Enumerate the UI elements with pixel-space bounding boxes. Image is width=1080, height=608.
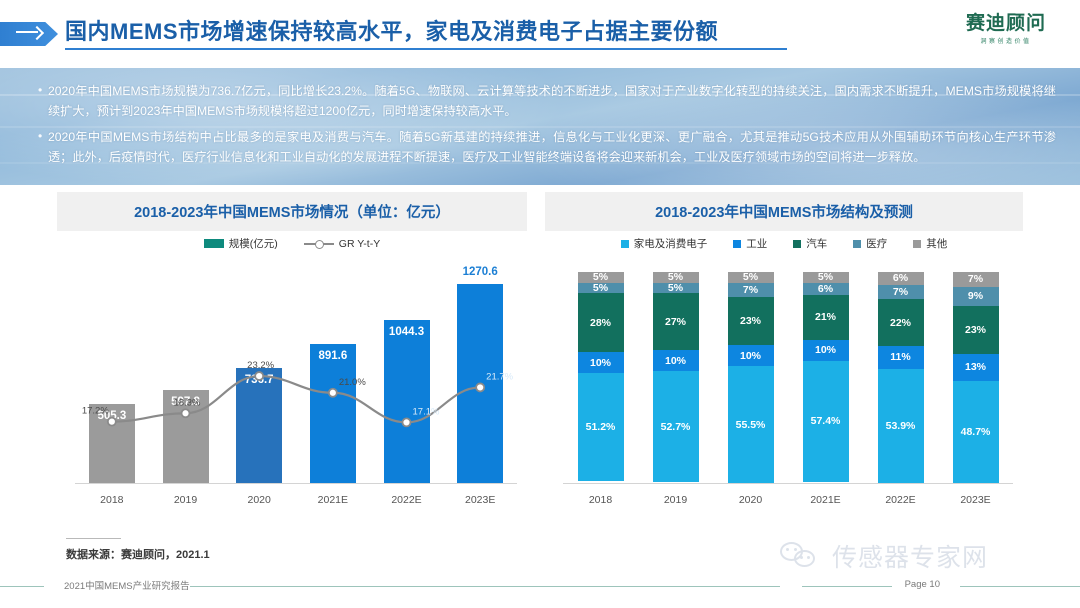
x-axis	[563, 483, 1013, 484]
stack-segment: 28%	[578, 293, 624, 352]
wechat-dot	[800, 556, 803, 559]
footer-divider	[190, 586, 780, 587]
growth-value-label: 17.2%	[82, 406, 109, 417]
legend-swatch-icon	[621, 240, 629, 248]
legend-item-1: 工业	[733, 236, 767, 251]
watermark: 传感器专家网	[780, 538, 988, 574]
legend-label: 医疗	[866, 236, 887, 251]
wechat-dot	[786, 548, 789, 551]
stacked-bar: 5%5%28%10%51.2%	[578, 272, 624, 483]
stack-segment: 6%	[878, 272, 924, 285]
x-axis-label: 2021E	[296, 494, 370, 506]
stack-segment: 48.7%	[953, 381, 999, 483]
stack-segment: 5%	[578, 272, 624, 283]
stack-segment: 11%	[878, 346, 924, 369]
legend-item-growth: GR Y-t-Y	[304, 238, 380, 250]
plot-area-market-size: 505.3597.8736.7891.61044.31270.6 17.2%18…	[57, 264, 527, 484]
wechat-bubble-small	[794, 550, 815, 567]
page-number: Page 10	[905, 579, 940, 590]
stacked-bar: 7%9%23%13%48.7%	[953, 272, 999, 483]
arrow-right-icon	[0, 22, 58, 46]
x-axis-label: 2018	[75, 494, 149, 506]
stack-segment: 7%	[878, 285, 924, 300]
chart-panel-market-size: 2018-2023年中国MEMS市场情况（单位：亿元） 规模(亿元) GR Y-…	[57, 192, 527, 534]
bullet-marker: •	[38, 81, 48, 100]
stack-slot: 5%7%23%10%55.5%	[713, 272, 788, 483]
stack-segment: 57.4%	[803, 361, 849, 482]
legend-item-4: 其他	[913, 236, 947, 251]
legend-label: 家电及消费电子	[634, 236, 708, 251]
stacked-bar-group: 5%5%28%10%51.2%5%5%27%10%52.7%5%7%23%10%…	[563, 272, 1013, 483]
x-axis-label: 2023E	[443, 494, 517, 506]
x-axis-label: 2019	[149, 494, 223, 506]
stacked-bar: 5%7%23%10%55.5%	[728, 272, 774, 483]
x-axis-label: 2022E	[863, 494, 938, 506]
wechat-dot	[794, 548, 797, 551]
x-axis-label: 2022E	[370, 494, 444, 506]
stack-segment: 10%	[728, 345, 774, 366]
source-divider	[66, 538, 121, 539]
x-axis-label: 2018	[563, 494, 638, 506]
stack-segment: 5%	[578, 283, 624, 294]
growth-line-marker	[476, 383, 484, 391]
legend-label: 汽车	[806, 236, 827, 251]
wechat-dot	[807, 556, 810, 559]
stack-segment: 55.5%	[728, 366, 774, 483]
stack-slot: 5%5%28%10%51.2%	[563, 272, 638, 483]
chart-title-bar: 2018-2023年中国MEMS市场情况（单位：亿元）	[57, 192, 527, 231]
legend-item-size: 规模(亿元)	[204, 236, 278, 251]
stack-slot: 5%6%21%10%57.4%	[788, 272, 863, 483]
plot-area-market-structure: 5%5%28%10%51.2%5%5%27%10%52.7%5%7%23%10%…	[545, 264, 1023, 484]
slide-header: 国内MEMS市场增速保持较高水平，家电及消费电子占据主要份额 赛迪顾问 洞察创造…	[0, 0, 1080, 68]
growth-value-label: 18.3%	[174, 397, 201, 408]
footer-divider	[802, 586, 892, 587]
growth-line-marker	[403, 418, 411, 426]
growth-value-label: 23.2%	[247, 360, 274, 371]
legend-label: 工业	[746, 236, 767, 251]
growth-line-marker	[255, 372, 263, 380]
footer-divider	[960, 586, 1080, 587]
stack-segment: 53.9%	[878, 369, 924, 483]
x-axis-label: 2020	[713, 494, 788, 506]
report-name: 2021中国MEMS产业研究报告	[64, 578, 190, 592]
legend-swatch-icon	[913, 240, 921, 248]
data-source-note: 数据来源：赛迪顾问，2021.1	[66, 546, 210, 562]
legend-line-marker-icon	[304, 239, 334, 248]
stack-segment: 27%	[653, 293, 699, 350]
stack-segment: 10%	[578, 352, 624, 373]
slide-root: 国内MEMS市场增速保持较高水平，家电及消费电子占据主要份额 赛迪顾问 洞察创造…	[0, 0, 1080, 608]
chart-panel-market-structure: 2018-2023年中国MEMS市场结构及预测 家电及消费电子工业汽车医疗其他 …	[545, 192, 1023, 534]
title-underline	[65, 48, 787, 50]
footer-divider	[0, 586, 44, 587]
stack-segment: 5%	[653, 283, 699, 294]
bullet-item: • 2020年中国MEMS市场规模为736.7亿元，同比增长23.2%。随着5G…	[38, 81, 1056, 121]
brand-name: 赛迪顾问	[966, 14, 1046, 34]
growth-line-marker	[329, 389, 337, 397]
legend-swatch-icon	[204, 239, 224, 248]
stack-segment: 13%	[953, 354, 999, 381]
stack-segment: 23%	[728, 297, 774, 345]
legend-item-3: 医疗	[853, 236, 887, 251]
page-title: 国内MEMS市场增速保持较高水平，家电及消费电子占据主要份额	[65, 14, 718, 46]
x-axis-label: 2023E	[938, 494, 1013, 506]
x-axis-label: 2019	[638, 494, 713, 506]
growth-line-marker	[108, 418, 116, 426]
stack-segment: 6%	[803, 283, 849, 296]
legend-item-0: 家电及消费电子	[621, 236, 708, 251]
growth-value-label: 21.7%	[486, 371, 513, 382]
stack-segment: 5%	[803, 272, 849, 283]
legend-label: 规模(亿元)	[229, 236, 278, 251]
bullet-marker: •	[38, 127, 48, 146]
stack-slot: 5%5%27%10%52.7%	[638, 272, 713, 483]
legend-label: GR Y-t-Y	[339, 238, 380, 250]
x-axis-label: 2021E	[788, 494, 863, 506]
brand-logo: 赛迪顾问 洞察创造价值	[966, 14, 1046, 45]
stack-segment: 52.7%	[653, 371, 699, 482]
brand-tagline: 洞察创造价值	[966, 36, 1046, 45]
legend-label: 其他	[926, 236, 947, 251]
x-axis	[75, 483, 517, 484]
bullet-text: 2020年中国MEMS市场结构中占比最多的是家电及消费与汽车。随着5G新基建的持…	[48, 127, 1056, 167]
stack-slot: 7%9%23%13%48.7%	[938, 272, 1013, 483]
bullet-item: • 2020年中国MEMS市场结构中占比最多的是家电及消费与汽车。随着5G新基建…	[38, 127, 1056, 167]
chart-title: 2018-2023年中国MEMS市场结构及预测	[655, 201, 913, 222]
stack-segment: 7%	[953, 272, 999, 287]
legend-item-2: 汽车	[793, 236, 827, 251]
x-axis-labels: 2018201920202021E2022E2023E	[75, 494, 517, 506]
stack-segment: 7%	[728, 283, 774, 298]
stack-segment: 51.2%	[578, 373, 624, 481]
x-axis-label: 2020	[222, 494, 296, 506]
legend-swatch-icon	[733, 240, 741, 248]
stack-segment: 21%	[803, 295, 849, 339]
watermark-text: 传感器专家网	[832, 538, 988, 574]
stack-slot: 6%7%22%11%53.9%	[863, 272, 938, 483]
stack-segment: 22%	[878, 299, 924, 345]
stack-segment: 9%	[953, 287, 999, 306]
stack-segment: 10%	[803, 340, 849, 361]
stacked-bar: 5%6%21%10%57.4%	[803, 272, 849, 483]
bullet-list: • 2020年中国MEMS市场规模为736.7亿元，同比增长23.2%。随着5G…	[38, 81, 1056, 173]
bullet-text: 2020年中国MEMS市场规模为736.7亿元，同比增长23.2%。随着5G、物…	[48, 81, 1056, 121]
growth-value-label: 21.0%	[339, 377, 366, 388]
stacked-bar: 6%7%22%11%53.9%	[878, 272, 924, 483]
growth-line-marker	[182, 409, 190, 417]
stack-segment: 23%	[953, 306, 999, 354]
chart-legend: 家电及消费电子工业汽车医疗其他	[545, 236, 1023, 251]
stack-segment: 5%	[728, 272, 774, 283]
wechat-icon	[780, 541, 824, 571]
summary-banner: • 2020年中国MEMS市场规模为736.7亿元，同比增长23.2%。随着5G…	[0, 68, 1080, 185]
x-axis-labels: 2018201920202021E2022E2023E	[563, 494, 1013, 506]
growth-line: 17.2%18.3%23.2%21.0%17.1%21.7%	[75, 264, 517, 483]
stacked-bar: 5%5%27%10%52.7%	[653, 272, 699, 483]
chart-title-bar: 2018-2023年中国MEMS市场结构及预测	[545, 192, 1023, 231]
legend-swatch-icon	[853, 240, 861, 248]
stack-segment: 10%	[653, 350, 699, 371]
chart-legend: 规模(亿元) GR Y-t-Y	[57, 236, 527, 251]
legend-swatch-icon	[793, 240, 801, 248]
chart-title: 2018-2023年中国MEMS市场情况（单位：亿元）	[134, 201, 450, 222]
growth-value-label: 17.1%	[413, 406, 440, 417]
stack-segment: 5%	[653, 272, 699, 283]
